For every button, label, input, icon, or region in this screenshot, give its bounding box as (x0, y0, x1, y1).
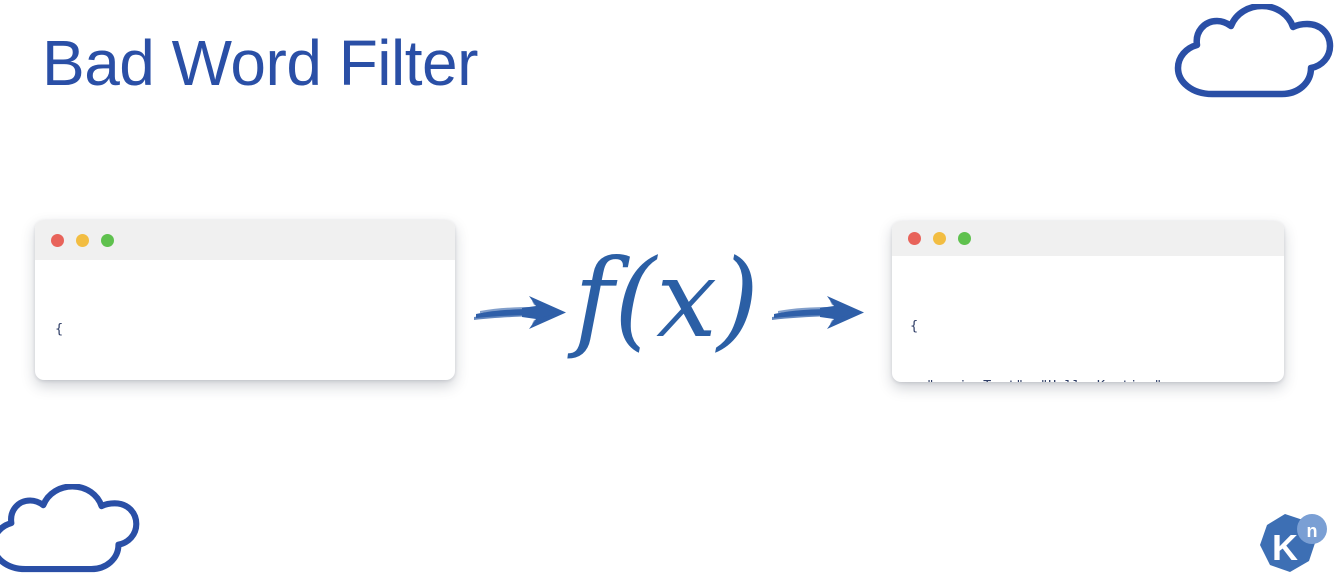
window-titlebar (35, 220, 455, 260)
close-button[interactable] (908, 232, 921, 245)
maximize-button[interactable] (958, 232, 971, 245)
minimize-button[interactable] (933, 232, 946, 245)
output-json-window: { "reviewText": "Hello Knative", "badWor… (892, 221, 1284, 382)
knative-letter-k: K (1272, 527, 1298, 568)
close-button[interactable] (51, 234, 64, 247)
function-label: f(x) (574, 246, 754, 354)
code-line: { (55, 320, 435, 339)
knative-logo: K n (1256, 512, 1328, 585)
input-code-block: { "reviewText":"Hello Knative" } (35, 260, 455, 380)
code-line: { (910, 316, 1264, 336)
cloud-outline-icon (0, 484, 141, 584)
code-line: "reviewText": "Hello Knative", (910, 376, 1264, 382)
knative-letter-n: n (1307, 521, 1318, 541)
maximize-button[interactable] (101, 234, 114, 247)
input-json-window: { "reviewText":"Hello Knative" } (35, 220, 455, 380)
code-line: "reviewText":"Hello Knative" (55, 377, 435, 380)
page-title: Bad Word Filter (42, 28, 478, 98)
output-code-block: { "reviewText": "Hello Knative", "badWor… (892, 256, 1284, 382)
cloud-outline-icon (1170, 4, 1335, 109)
brush-arrow-right-icon (474, 292, 570, 339)
minimize-button[interactable] (76, 234, 89, 247)
window-titlebar (892, 221, 1284, 256)
brush-arrow-right-icon (772, 292, 868, 339)
